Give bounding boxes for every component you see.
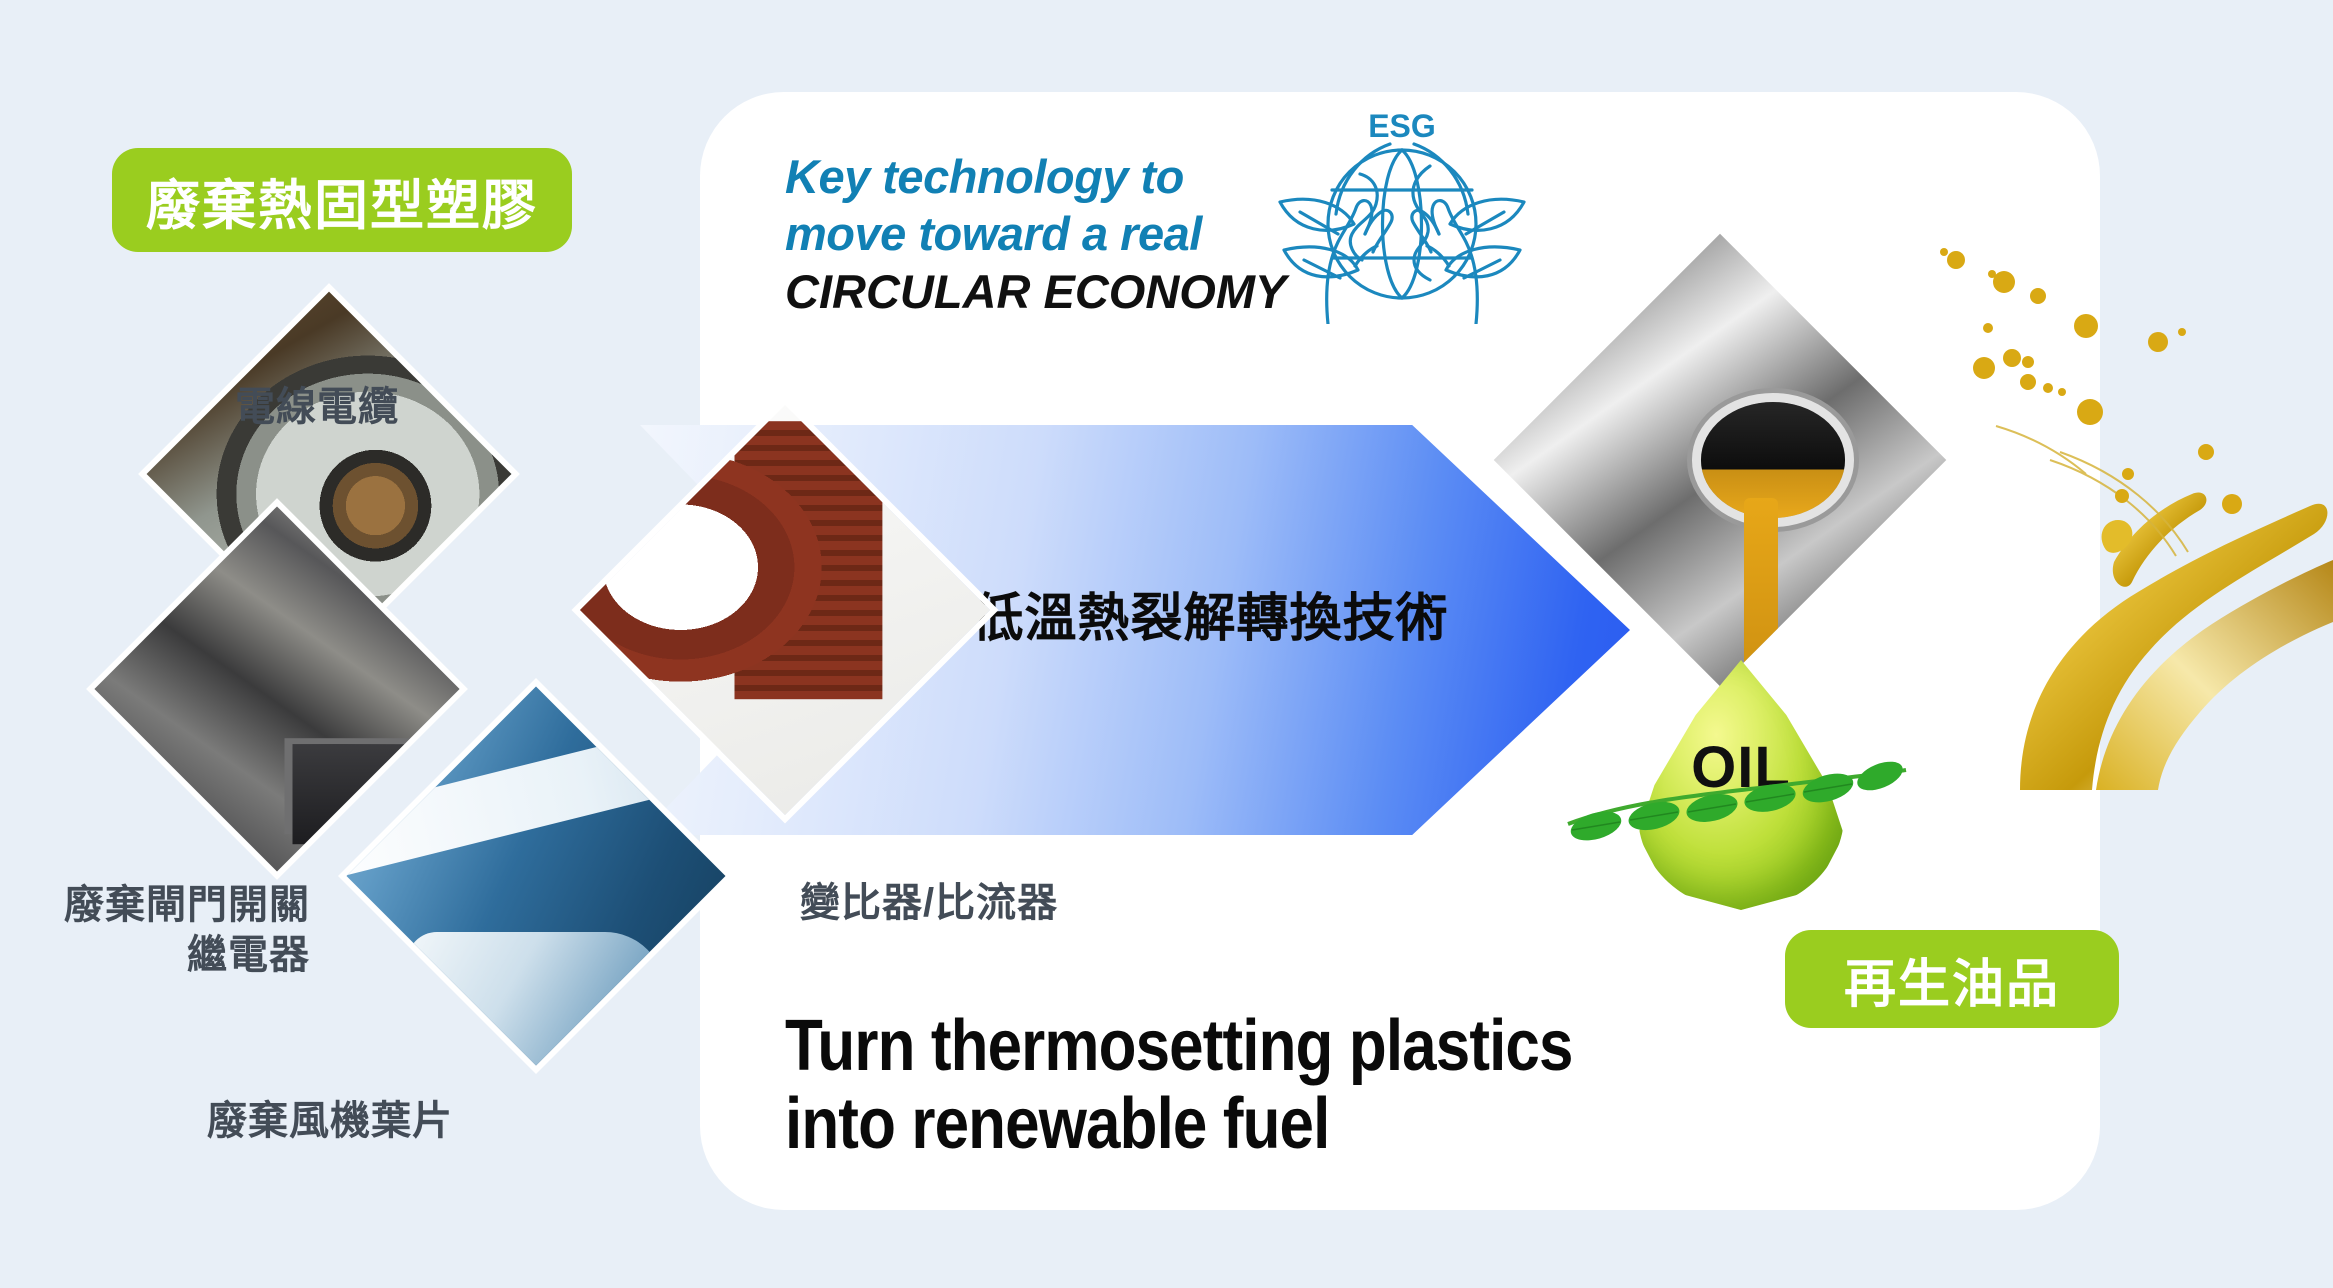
badge-regenerated-oil: 再生油品 [1785, 930, 2119, 1028]
caption-cable: 電線電纜 [212, 382, 422, 432]
tagline-block: Turn thermosetting plastics into renewab… [785, 1010, 1645, 1160]
esg-logo: ESG [1262, 112, 1542, 324]
headline-line-3: CIRCULAR ECONOMY [785, 263, 1305, 320]
headline-line-1: Key technology to [785, 148, 1305, 205]
oil-splash-graphic [1900, 230, 2333, 790]
badge-waste-thermoset-plastic: 廢棄熱固型塑膠 [112, 148, 572, 252]
caption-switchgear: 廢棄閘門開關 繼電器 [30, 880, 310, 980]
tagline-line-1: Turn thermosetting plastics [785, 1010, 1645, 1082]
headline-block: Key technology to move toward a real CIR… [785, 148, 1305, 320]
caption-wind-turbine: 廢棄風機葉片 [190, 1096, 470, 1146]
caption-switchgear-line1: 廢棄閘門開關 [30, 880, 310, 930]
caption-switchgear-line2: 繼電器 [30, 930, 310, 980]
infographic-canvas: 低溫熱裂解轉換技術 電線電纜 廢棄閘門開關 繼電器 廢棄風機葉片 變比器/比流器… [0, 0, 2333, 1288]
leaf-vine-icon [1562, 760, 1912, 852]
headline-line-2: move toward a real [785, 205, 1305, 262]
esg-logo-label: ESG [1262, 108, 1542, 145]
caption-transformer: 變比器/比流器 [800, 878, 1120, 928]
tagline-line-2: into renewable fuel [785, 1088, 1645, 1160]
process-arrow-label: 低溫熱裂解轉換技術 [960, 576, 1460, 651]
